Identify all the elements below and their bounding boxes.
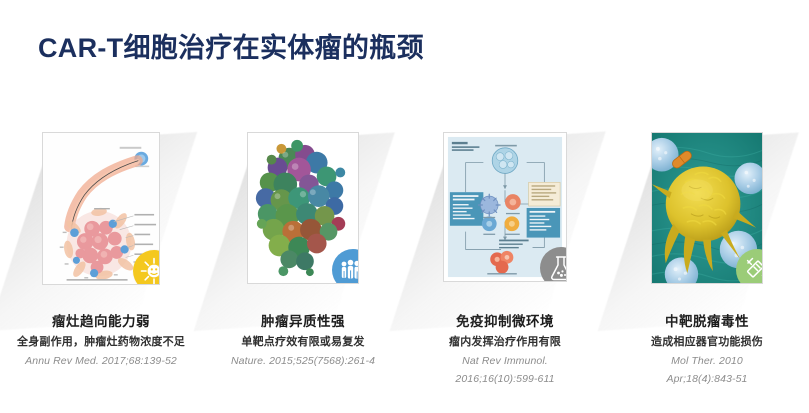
page-title: CAR-T细胞治疗在实体瘤的瓶颈: [38, 26, 424, 65]
thumbnail-wrapper: [247, 132, 359, 287]
card-ontarget-offtumor[interactable]: 中靶脱瘤毒性 造成相应器官功能损伤 Mol Ther. 2010 Apr;18(…: [606, 128, 808, 386]
caption-reference: Nat Rev Immunol.: [405, 354, 605, 368]
slide-root: CAR-T细胞治疗在实体瘤的瓶颈: [0, 0, 809, 413]
caption-reference: Mol Ther. 2010: [607, 354, 807, 368]
caption-reference-line2: 2016;16(10):599-611: [405, 372, 605, 386]
caption-reference-line2: Apr;18(4):843-51: [607, 372, 807, 386]
thumbnail-heterogeneity[interactable]: [247, 132, 359, 284]
thumbnail-ontarget-offtumor[interactable]: [651, 132, 763, 284]
caption-subline: 单靶点疗效有限或易复发: [203, 335, 403, 350]
card-microenvironment[interactable]: 免疫抑制微环境 瘤内发挥治疗作用有限 Nat Rev Immunol. 2016…: [404, 128, 606, 386]
thumbnail-wrapper: [651, 132, 763, 287]
card-heterogeneity[interactable]: 肿瘤异质性强 单靶点疗效有限或易复发 Nature. 2015;525(7568…: [202, 128, 404, 386]
thumbnail-wrapper: [443, 132, 567, 287]
thumbnail-homing[interactable]: [42, 132, 160, 285]
caption-subline: 瘤内发挥治疗作用有限: [405, 335, 605, 350]
card-homing[interactable]: 瘤灶趋向能力弱 全身副作用，肿瘤灶药物浓度不足 Annu Rev Med. 20…: [0, 128, 202, 386]
thumbnail-wrapper: [42, 132, 160, 287]
card-row: 瘤灶趋向能力弱 全身副作用，肿瘤灶药物浓度不足 Annu Rev Med. 20…: [0, 128, 809, 386]
caption-subline: 全身副作用，肿瘤灶药物浓度不足: [1, 335, 201, 350]
caption-reference: Annu Rev Med. 2017;68:139-52: [1, 354, 201, 368]
caption-reference: Nature. 2015;525(7568):261-4: [203, 354, 403, 368]
caption-subline: 造成相应器官功能损伤: [607, 335, 807, 350]
thumbnail-microenvironment[interactable]: [443, 132, 567, 282]
